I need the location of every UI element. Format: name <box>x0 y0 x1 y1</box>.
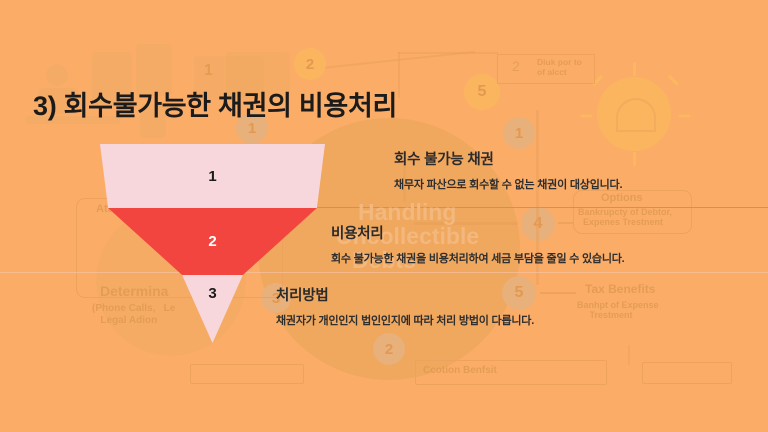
background-connector-top <box>300 51 475 71</box>
background-bracket-bottom <box>628 345 630 365</box>
background-step-circle-1b: 1 <box>503 117 535 149</box>
background-box-bottom-left <box>190 364 304 384</box>
funnel-band-3-number: 3 <box>208 285 216 302</box>
background-box-collection-benefit <box>415 360 607 385</box>
background-arrow-tax <box>540 292 576 294</box>
sun-ray <box>592 75 603 86</box>
background-note-number-2: 2 <box>512 58 520 74</box>
background-bracket-top <box>398 52 498 54</box>
page-title: 3) 회수불가능한 채권의 비용처리 <box>33 84 397 123</box>
content-block-2: 비용처리 회수 불가능한 채권을 비용처리하여 세금 부담을 줄일 수 있습니다… <box>331 222 625 266</box>
background-step-1a: 1 <box>204 62 213 80</box>
sun-ray <box>679 115 691 118</box>
content-block-2-heading: 비용처리 <box>331 222 625 243</box>
slide-canvas: 1 2 5 1 1 4 5 3 2 2 Diuk por to of alcct… <box>0 0 768 432</box>
funnel-band-1-number: 1 <box>208 168 216 185</box>
background-label-collection-benefit: Ccotion Benfsit <box>423 365 497 377</box>
background-rule-red <box>278 207 768 208</box>
sun-icon <box>597 77 671 151</box>
background-step-circle-5a: 5 <box>464 74 500 110</box>
illustration-person-head <box>46 64 68 86</box>
background-label-options: Options <box>601 192 643 205</box>
background-step-circle-2: 2 <box>294 48 326 80</box>
sun-ray <box>581 115 593 118</box>
content-block-2-body: 회수 불가능한 채권을 비용처리하여 세금 부담을 줄일 수 있습니다. <box>331 250 625 266</box>
funnel-band-1[interactable]: 1 <box>100 144 325 208</box>
background-box-bottom-right <box>642 362 732 384</box>
background-bracket-left <box>398 52 400 98</box>
background-label-tax-benefits-sub: Banhpt of Expense Trestment <box>577 300 659 321</box>
funnel-band-2[interactable]: 2 <box>100 208 325 275</box>
background-hero-heading: Handling <box>358 200 456 224</box>
content-block-3: 처리방법 채권자가 개인인지 법인인지에 따라 처리 방법이 다릅니다. <box>276 284 534 328</box>
content-block-3-body: 채권자가 개인인지 법인인지에 따라 처리 방법이 다릅니다. <box>276 312 534 328</box>
umbrella-icon <box>616 98 656 132</box>
sun-ray <box>633 62 636 76</box>
background-note-label: Diuk por to of alcct <box>537 58 582 78</box>
content-block-1-body: 채무자 파산으로 회수할 수 없는 채권이 대상입니다. <box>394 176 622 192</box>
content-block-1-heading: 회수 불가능 채권 <box>394 148 622 169</box>
background-label-tax-benefits: Tax Benefits <box>585 283 655 297</box>
funnel-band-2-number: 2 <box>208 233 216 250</box>
content-block-3-heading: 처리방법 <box>276 284 534 305</box>
sun-ray <box>633 152 636 166</box>
background-note-box <box>497 54 595 84</box>
background-step-circle-1d: 2 <box>373 333 405 365</box>
sun-ray <box>668 75 679 86</box>
content-block-1: 회수 불가능 채권 채무자 파산으로 회수할 수 없는 채권이 대상입니다. <box>394 148 622 192</box>
